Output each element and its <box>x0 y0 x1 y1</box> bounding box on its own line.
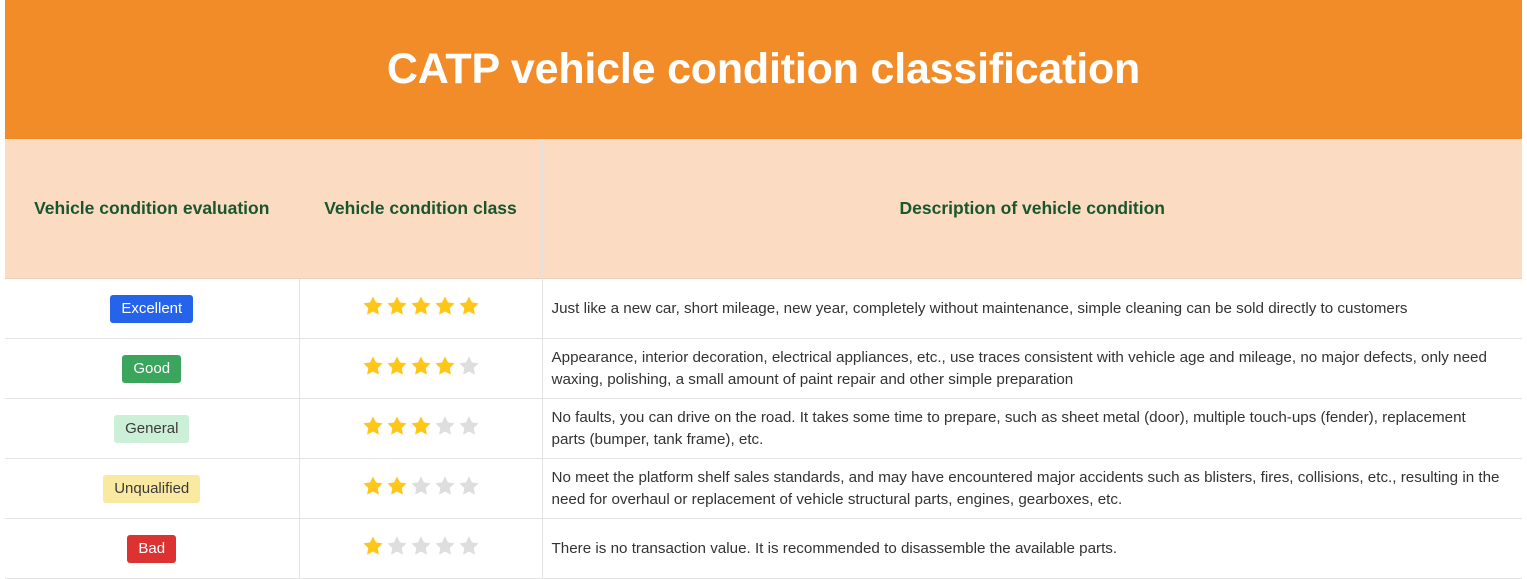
star-filled-icon <box>385 474 409 498</box>
column-header-class-label: Vehicle condition class <box>300 198 542 219</box>
condition-badge: Bad <box>127 535 176 563</box>
star-filled-icon <box>361 534 385 558</box>
table-row: BadThere is no transaction value. It is … <box>5 519 1522 579</box>
cell-description: Appearance, interior decoration, electri… <box>542 339 1522 399</box>
star-filled-icon <box>409 294 433 318</box>
star-empty-icon <box>457 534 481 558</box>
condition-description: No faults, you can drive on the road. It… <box>543 401 1523 456</box>
page-root: CATP vehicle condition classification Ve… <box>0 0 1527 579</box>
star-empty-icon <box>409 474 433 498</box>
cell-evaluation: Good <box>5 339 299 399</box>
column-header-class: Vehicle condition class <box>299 139 542 279</box>
cell-condition-class <box>299 519 542 579</box>
condition-badge: Unqualified <box>103 475 200 503</box>
cell-condition-class <box>299 339 542 399</box>
star-rating <box>361 414 481 438</box>
table-body: ExcellentJust like a new car, short mile… <box>5 279 1522 579</box>
condition-description: No meet the platform shelf sales standar… <box>543 461 1523 516</box>
cell-evaluation: Excellent <box>5 279 299 339</box>
star-filled-icon <box>409 354 433 378</box>
table-header-row: Vehicle condition evaluation Vehicle con… <box>5 139 1522 279</box>
cell-condition-class <box>299 459 542 519</box>
cell-evaluation: General <box>5 399 299 459</box>
star-empty-icon <box>457 354 481 378</box>
star-filled-icon <box>361 294 385 318</box>
condition-badge: General <box>114 415 189 443</box>
condition-badge: Excellent <box>110 295 193 323</box>
vehicle-condition-table: Vehicle condition evaluation Vehicle con… <box>5 139 1522 579</box>
cell-description: There is no transaction value. It is rec… <box>542 519 1522 579</box>
cell-description: Just like a new car, short mileage, new … <box>542 279 1522 339</box>
table-row: GeneralNo faults, you can drive on the r… <box>5 399 1522 459</box>
star-filled-icon <box>361 354 385 378</box>
star-empty-icon <box>385 534 409 558</box>
star-filled-icon <box>361 414 385 438</box>
star-filled-icon <box>409 414 433 438</box>
page-title: CATP vehicle condition classification <box>387 46 1140 93</box>
table-row: GoodAppearance, interior decoration, ele… <box>5 339 1522 399</box>
star-filled-icon <box>385 294 409 318</box>
cell-condition-class <box>299 279 542 339</box>
star-rating <box>361 354 481 378</box>
star-empty-icon <box>409 534 433 558</box>
star-filled-icon <box>385 354 409 378</box>
cell-evaluation: Bad <box>5 519 299 579</box>
star-empty-icon <box>433 474 457 498</box>
cell-description: No meet the platform shelf sales standar… <box>542 459 1522 519</box>
cell-description: No faults, you can drive on the road. It… <box>542 399 1522 459</box>
column-header-description-label: Description of vehicle condition <box>543 198 1523 219</box>
star-rating <box>361 474 481 498</box>
star-empty-icon <box>457 474 481 498</box>
table-row: ExcellentJust like a new car, short mile… <box>5 279 1522 339</box>
star-filled-icon <box>433 294 457 318</box>
condition-description: Appearance, interior decoration, electri… <box>543 341 1523 396</box>
star-rating <box>361 294 481 318</box>
star-filled-icon <box>385 414 409 438</box>
star-empty-icon <box>457 414 481 438</box>
cell-evaluation: Unqualified <box>5 459 299 519</box>
star-empty-icon <box>433 414 457 438</box>
star-filled-icon <box>457 294 481 318</box>
title-banner: CATP vehicle condition classification <box>5 0 1522 139</box>
star-rating <box>361 534 481 558</box>
condition-description: Just like a new car, short mileage, new … <box>543 292 1523 326</box>
star-empty-icon <box>433 534 457 558</box>
column-header-description: Description of vehicle condition <box>542 139 1522 279</box>
star-filled-icon <box>361 474 385 498</box>
condition-description: There is no transaction value. It is rec… <box>543 532 1523 566</box>
table-row: UnqualifiedNo meet the platform shelf sa… <box>5 459 1522 519</box>
column-header-evaluation-label: Vehicle condition evaluation <box>5 198 299 219</box>
condition-badge: Good <box>122 355 181 383</box>
column-header-evaluation: Vehicle condition evaluation <box>5 139 299 279</box>
cell-condition-class <box>299 399 542 459</box>
star-filled-icon <box>433 354 457 378</box>
